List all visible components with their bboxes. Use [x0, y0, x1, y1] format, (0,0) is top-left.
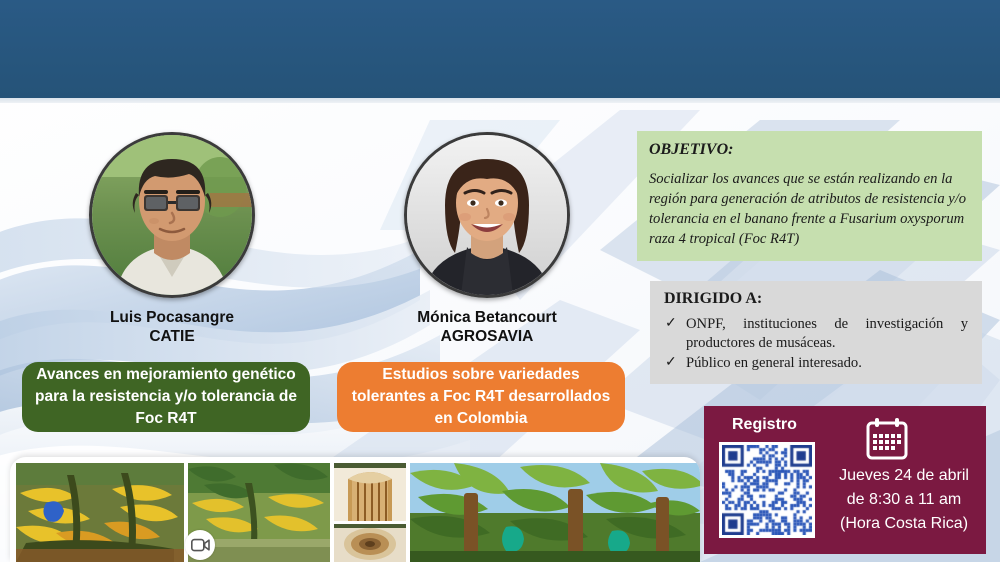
pseudostem-and-corm-photos [334, 463, 406, 562]
calendar-icon [864, 416, 910, 462]
speaker-org: AGROSAVIA [387, 327, 587, 346]
event-date-line2: de 8:30 a 11 am [824, 488, 984, 512]
event-date-line3: (Hora Costa Rica) [824, 512, 984, 536]
video-camera-icon[interactable] [185, 530, 215, 560]
dirigido-title: DIRIGIDO A: [664, 290, 968, 308]
list-item-label: ONPF, instituciones de investigación y p… [686, 316, 968, 351]
event-date-line1: Jueves 24 de abril [824, 464, 984, 488]
speaker-name: Mónica Betancourt [387, 308, 587, 327]
topic-text: Estudios sobre variedades tolerantes a F… [347, 364, 615, 430]
topic-box-monica: Estudios sobre variedades tolerantes a F… [337, 362, 625, 432]
list-item: ✓ ONPF, instituciones de investigación y… [664, 315, 968, 353]
objetivo-box: OBJETIVO: Socializar los avances que se … [637, 131, 982, 261]
registro-label: Registro [732, 416, 797, 434]
speaker-card-monica: Mónica Betancourt AGROSAVIA [387, 132, 587, 346]
objetivo-title: OBJETIVO: [649, 141, 970, 159]
check-icon: ✓ [665, 314, 677, 333]
topic-box-luis: Avances en mejoramiento genético para la… [22, 362, 310, 432]
banana-plant-yellow-leaves-photo [16, 463, 184, 562]
avatar-photo-monica [404, 132, 570, 298]
corm-rot-closeup-photo [334, 524, 406, 562]
photo-strip [10, 457, 700, 562]
pseudostem-cross-section-photo [334, 463, 406, 521]
dirigido-box: DIRIGIDO A: ✓ ONPF, instituciones de inv… [650, 281, 982, 384]
poster-canvas: VIDEOCONFERENCIA PARA EL INTERCAMBIO DE … [0, 0, 1000, 562]
dirigido-list: ✓ ONPF, instituciones de investigación y… [664, 315, 968, 373]
objetivo-body: Socializar los avances que se están real… [649, 169, 970, 249]
header-underline [0, 98, 1000, 103]
qr-code-icon[interactable] [719, 442, 815, 538]
avatar-photo-luis [89, 132, 255, 298]
banana-plantation-green-photo [410, 463, 700, 562]
check-icon: ✓ [665, 353, 677, 372]
registro-box: Registro Jue [704, 406, 986, 554]
list-item-label: Público en general interesado. [686, 355, 862, 371]
speaker-org: CATIE [72, 327, 272, 346]
speaker-card-luis: Luis Pocasangre CATIE [72, 132, 272, 346]
event-datetime: Jueves 24 de abril de 8:30 a 11 am (Hora… [824, 464, 984, 536]
list-item: ✓ Público en general interesado. [664, 354, 968, 373]
speaker-name: Luis Pocasangre [72, 308, 272, 327]
header-bar [0, 0, 1000, 98]
topic-text: Avances en mejoramiento genético para la… [32, 364, 300, 430]
